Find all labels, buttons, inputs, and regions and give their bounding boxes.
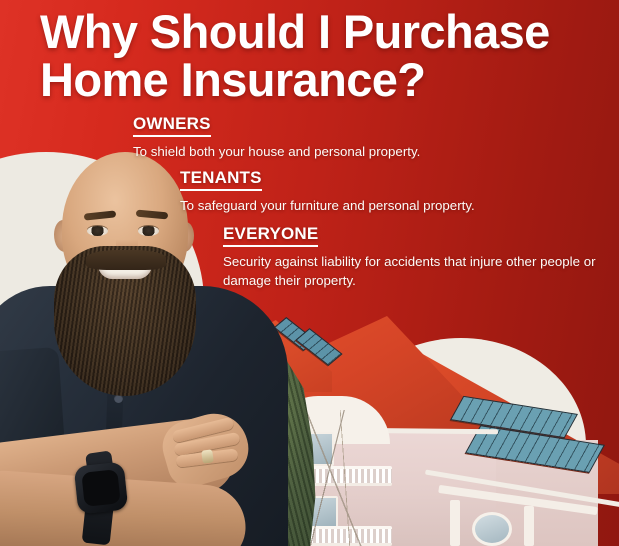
title-line-2: Home Insurance? [40,56,600,104]
section-heading-owners: OWNERS [133,114,211,137]
section-everyone: EVERYONE Security against liability for … [223,224,603,290]
section-tenants: TENANTS To safeguard your furniture and … [180,168,610,216]
text-layer: Why Should I Purchase Home Insurance? OW… [0,0,619,546]
section-body-tenants: To safeguard your furniture and personal… [180,197,610,216]
page-title: Why Should I Purchase Home Insurance? [40,8,600,104]
section-owners: OWNERS To shield both your house and per… [133,114,603,162]
title-line-1: Why Should I Purchase [40,8,600,56]
section-body-everyone: Security against liability for accidents… [223,253,603,290]
home-insurance-poster: Why Should I Purchase Home Insurance? OW… [0,0,619,546]
section-heading-tenants: TENANTS [180,168,262,191]
section-heading-everyone: EVERYONE [223,224,318,247]
section-body-owners: To shield both your house and personal p… [133,143,603,162]
